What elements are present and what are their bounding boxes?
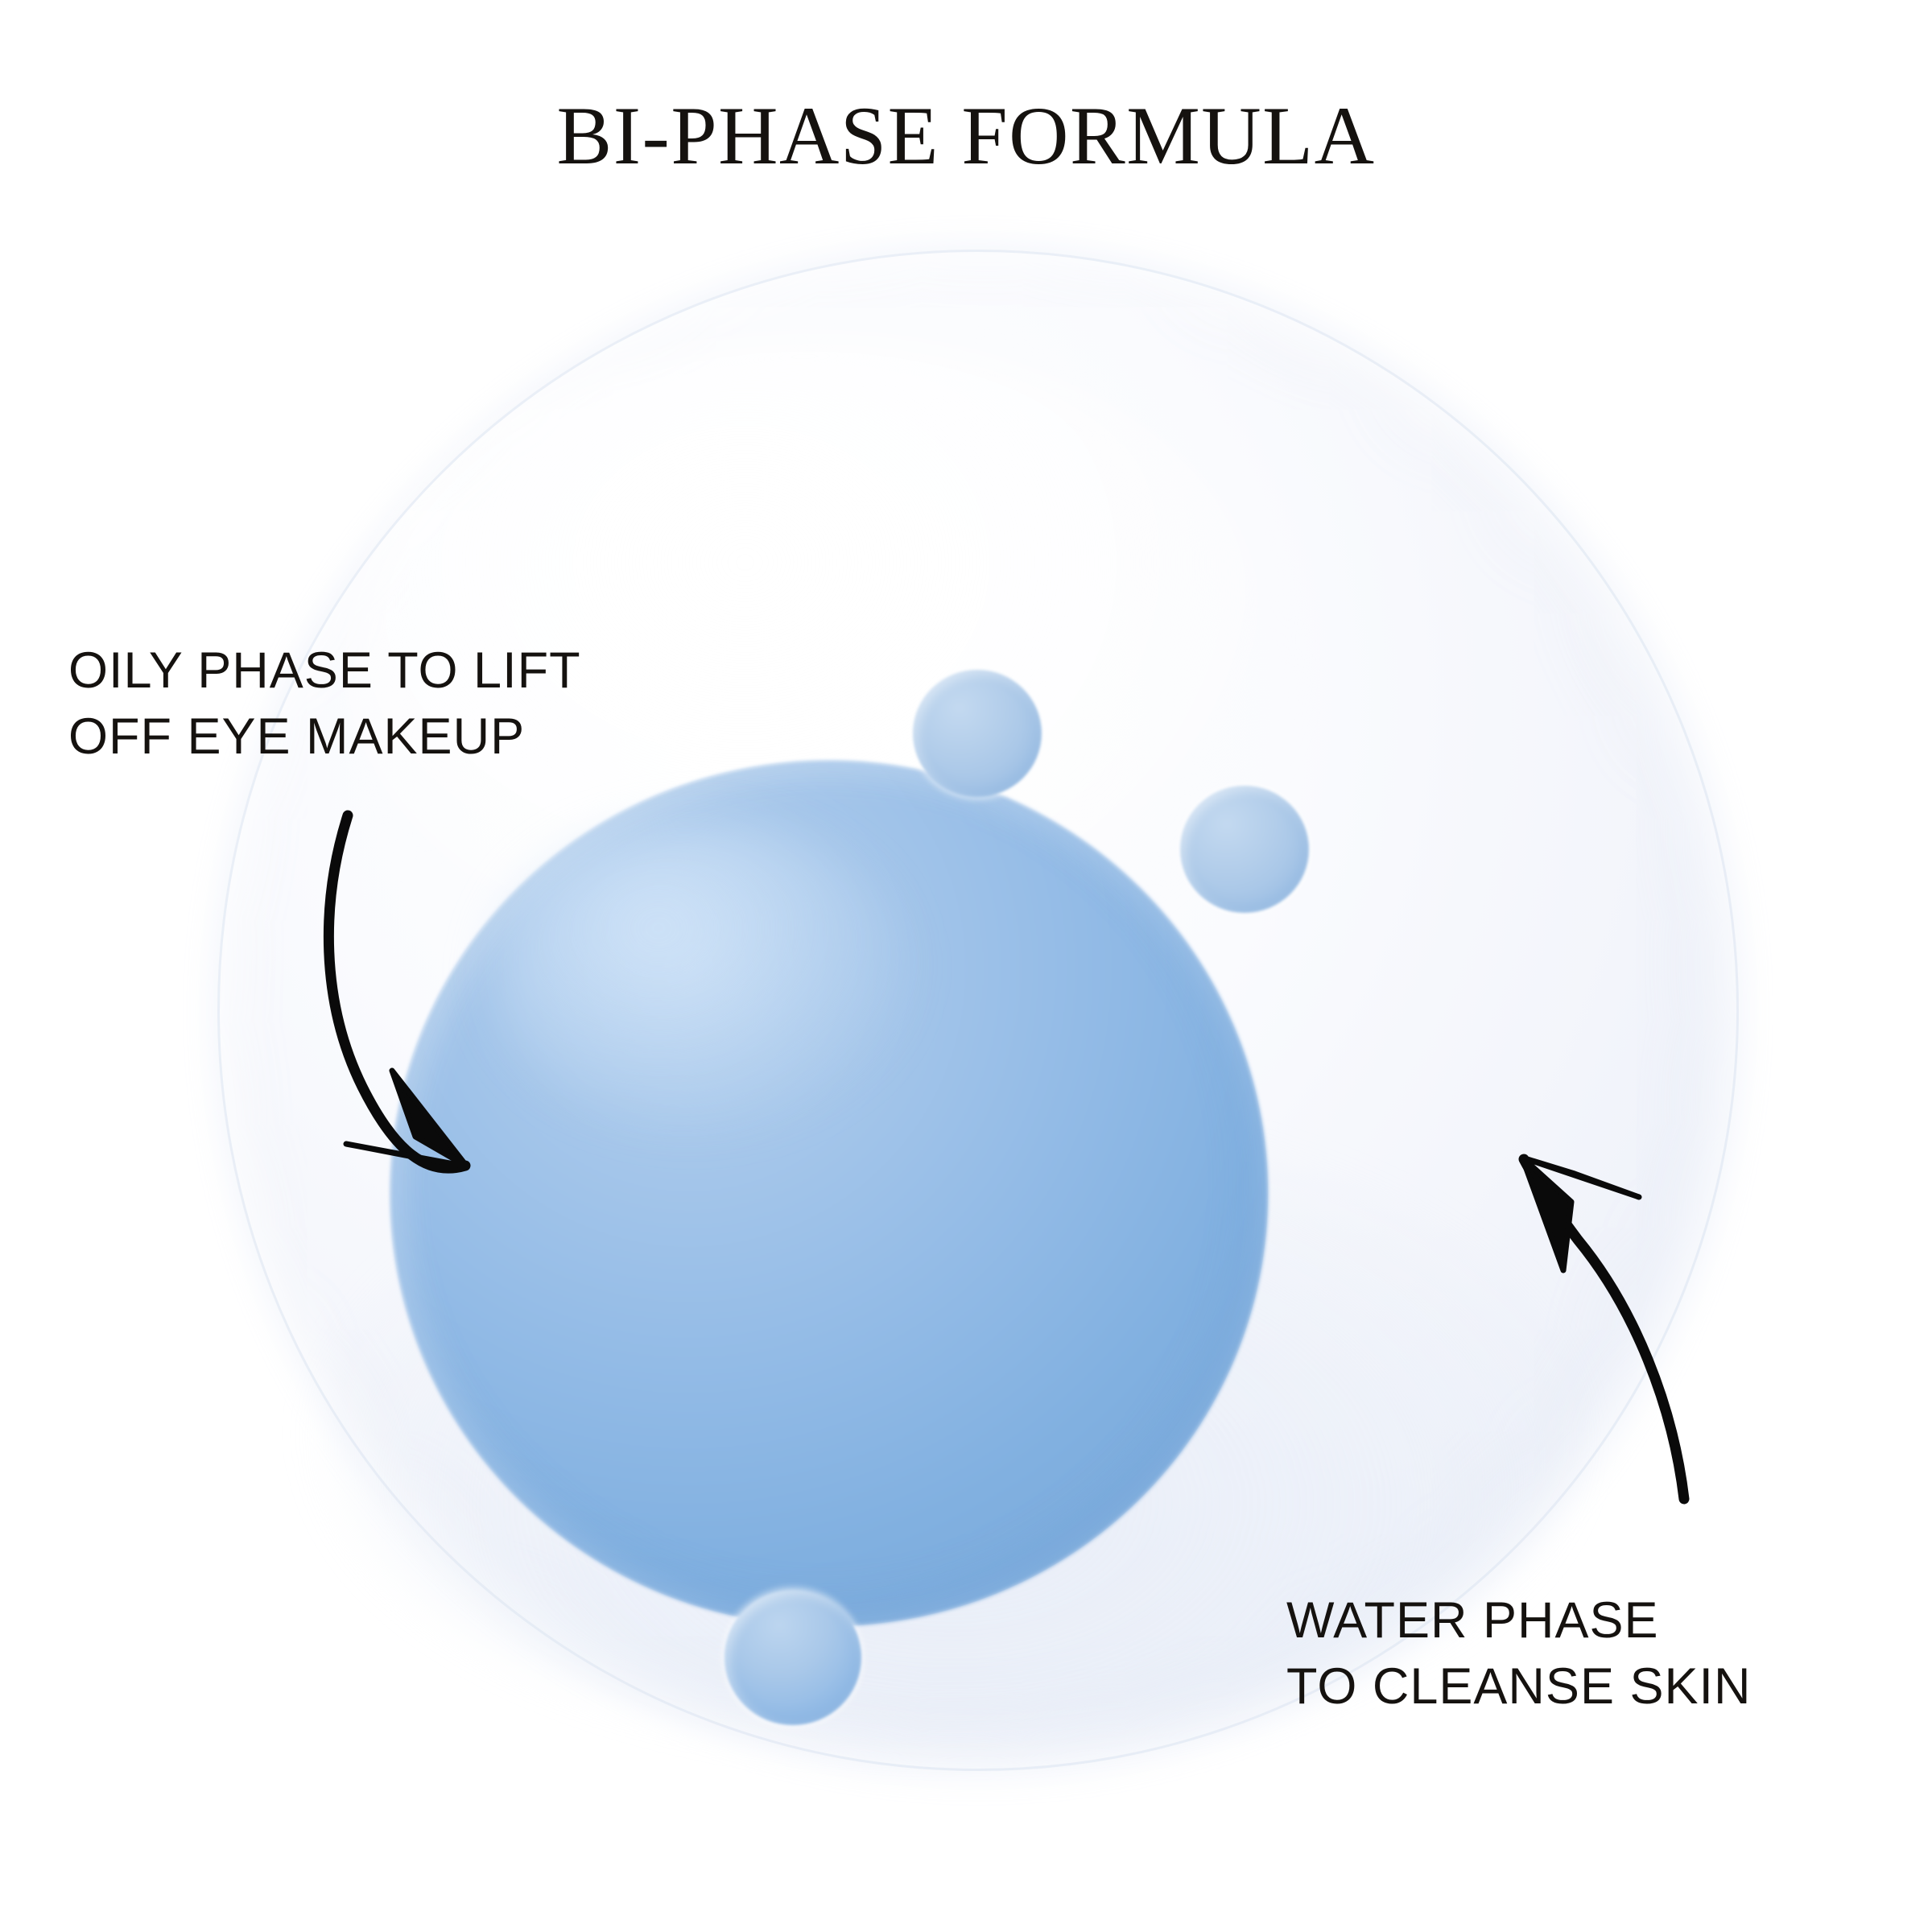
bubble-right <box>1180 786 1309 913</box>
annotation-oily-phase: OILY PHASE TO LIFT OFF EYE MAKEUP <box>68 638 581 770</box>
page-title: BI-PHASE FORMULA <box>0 95 1932 178</box>
oily-phase-droplet-highlight <box>491 821 910 1127</box>
bubble-bottom <box>724 1590 861 1725</box>
annotation-water-phase: WATER PHASE TO CLEANSE SKIN <box>1286 1587 1752 1719</box>
bubble-top <box>913 670 1042 797</box>
bi-phase-formula-graphic: BI-PHASE FORMULA OILY PHASE TO LIFT OFF … <box>0 0 1932 1932</box>
